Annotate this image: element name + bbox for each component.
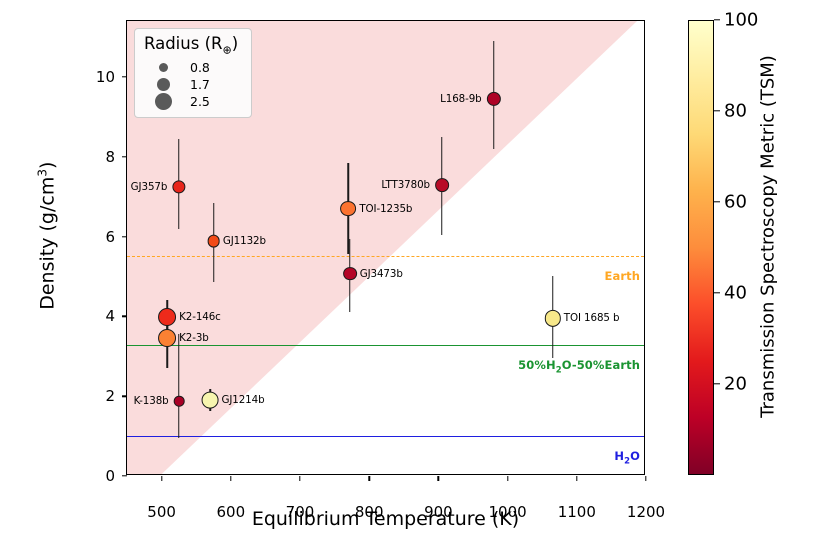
colorbar-tick-label: 20 [724,374,747,395]
radius-legend-dot [159,63,168,72]
data-point-label: GJ357b [131,181,168,193]
y-axis-tick-label: 2 [105,387,115,405]
y-axis-tick [122,475,127,476]
radius-legend-title: Radius (R⊕) [144,34,244,56]
y-axis-tick-label: 10 [96,68,115,86]
data-point-marker[interactable] [158,329,176,347]
radius-legend-swatch-cell [142,93,184,110]
reference-label-earth: Earth [605,269,640,283]
colorbar-tick [714,201,720,202]
radius-legend-rows: 0.81.72.5 [142,59,244,110]
x-axis-tick [299,476,300,481]
x-axis-tick [438,476,439,481]
data-point-label: K2-3b [179,332,209,344]
radius-legend-dot [155,93,172,110]
y-axis-tick [122,76,127,77]
y-axis-tick [122,395,127,396]
tsm-colorbar-label: Transmission Spectroscopy Metric (TSM) [758,2,779,472]
data-point-label: K2-146c [179,311,221,323]
error-bar [178,334,180,438]
y-axis-tick [122,316,127,317]
colorbar-tick [714,110,720,111]
colorbar-tick [714,292,720,293]
reference-label-h2o: H2O [614,449,640,466]
y-axis-label-text: Density (g/cm [37,177,59,310]
y-axis-tick-label: 8 [105,148,115,166]
reference-label-50-h2o-50-earth: 50%H2O-50%Earth [518,358,640,375]
data-point-marker[interactable] [174,396,185,407]
y-axis-label-tail: ) [37,162,59,169]
data-point-label: GJ3473b [360,268,403,280]
radius-legend-value: 2.5 [190,94,210,109]
data-point-label: TOI-1235b [359,203,412,215]
radius-legend-dot [157,78,170,91]
y-axis-tick-label: 4 [105,307,115,325]
radius-legend-row: 0.8 [142,59,244,76]
y-axis-tick [122,156,127,157]
colorbar-tick-label: 40 [724,283,747,304]
x-axis-tick [368,476,369,481]
data-point-label: K-138b [134,395,169,407]
x-axis-tick [230,476,231,481]
colorbar-tick [714,383,720,384]
x-axis-tick [507,476,508,481]
x-axis-tick [161,476,162,481]
x-axis-tick [645,476,646,481]
y-axis-label-exponent: 3 [35,169,49,177]
radius-legend-title-text: Radius (R [144,34,222,53]
data-point-label: L168-9b [440,93,482,105]
radius-size-legend: Radius (R⊕) 0.81.72.5 [134,28,252,118]
colorbar-tick [714,19,720,20]
density-vs-temperature-figure: Earth50%H2O-50%EarthH2O GJ357bGJ1132bTOI… [0,0,830,554]
radius-legend-swatch-cell [142,78,184,91]
data-point-label: GJ1132b [223,235,266,247]
earth-symbol-icon: ⊕ [222,43,231,56]
radius-legend-value: 1.7 [190,77,210,92]
y-axis-tick-label: 0 [105,467,115,485]
data-point-label: TOI 1685 b [564,312,620,324]
reference-line-earth [127,256,644,257]
data-point-label: GJ1214b [221,394,264,406]
reference-line-h2o [127,436,644,437]
data-point-marker[interactable] [207,235,220,248]
y-axis-tick-label: 6 [105,228,115,246]
radius-legend-value: 0.8 [190,60,210,75]
radius-legend-swatch-cell [142,63,184,72]
colorbar-tick-label: 100 [724,10,758,31]
data-point-label: LTT3780b [381,179,430,191]
reference-line-50-h2o-50-earth [127,345,644,346]
data-point-marker[interactable] [343,267,357,281]
radius-legend-title-tail: ) [232,34,238,53]
data-point-marker[interactable] [202,392,219,409]
y-axis-label: Density (g/cm3) [35,26,58,446]
tsm-colorbar [688,20,714,475]
radius-legend-row: 1.7 [142,76,244,93]
y-axis-tick [122,236,127,237]
data-point-marker[interactable] [435,179,449,193]
x-axis-label: Equilibrium Temperature (K) [126,508,645,530]
colorbar-tick-label: 80 [724,101,747,122]
x-axis-tick [576,476,577,481]
data-point-marker[interactable] [341,201,357,217]
data-point-marker[interactable] [158,308,176,326]
colorbar-tick-label: 60 [724,192,747,213]
radius-legend-row: 2.5 [142,93,244,110]
